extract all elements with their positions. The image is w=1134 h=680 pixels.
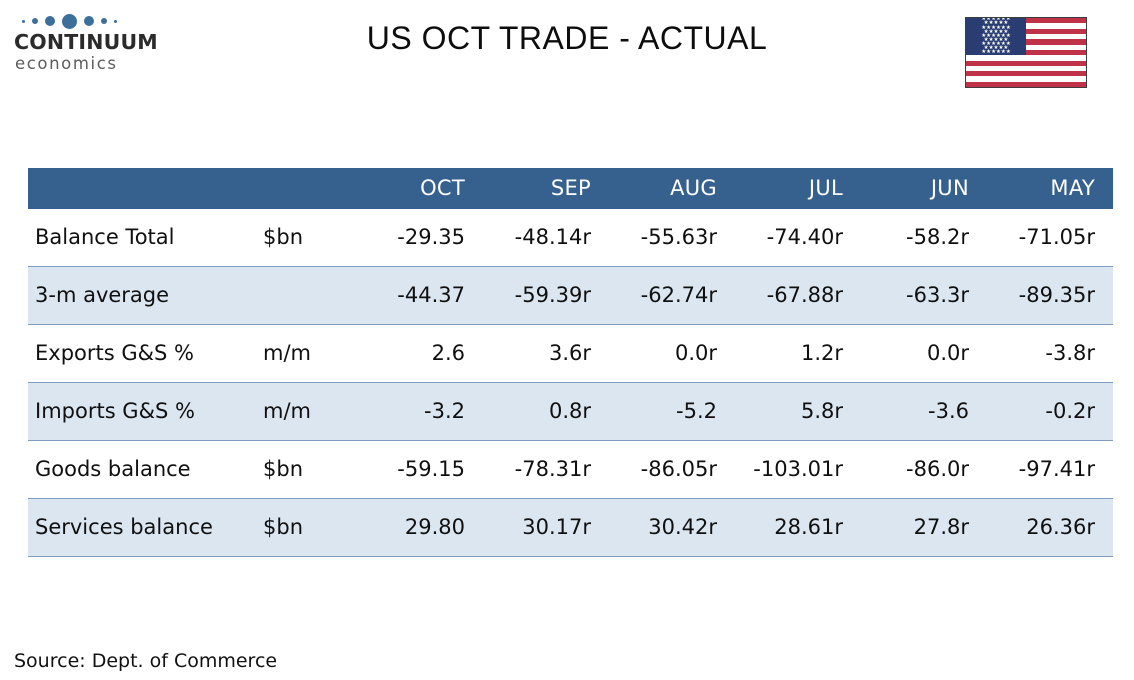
cell-may: -89.35r — [987, 267, 1113, 325]
row-label: Balance Total — [28, 209, 256, 267]
row-label: 3-m average — [28, 267, 256, 325]
cell-sep: 3.6r — [483, 325, 609, 383]
cell-may: -3.8r — [987, 325, 1113, 383]
cell-sep: -59.39r — [483, 267, 609, 325]
cell-may: -71.05r — [987, 209, 1113, 267]
cell-may: -97.41r — [987, 441, 1113, 499]
table-row: Services balance $bn 29.80 30.17r 30.42r… — [28, 499, 1113, 557]
cell-jun: -3.6 — [861, 383, 987, 441]
cell-aug: -86.05r — [609, 441, 735, 499]
column-header-label — [28, 168, 256, 209]
column-header-jun: JUN — [861, 168, 987, 209]
cell-jul: -67.88r — [735, 267, 861, 325]
cell-oct: 29.80 — [357, 499, 483, 557]
cell-jun: -86.0r — [861, 441, 987, 499]
cell-sep: -78.31r — [483, 441, 609, 499]
row-unit: $bn — [256, 209, 357, 267]
row-unit: m/m — [256, 383, 357, 441]
cell-oct: -59.15 — [357, 441, 483, 499]
source-note: Source: Dept. of Commerce — [14, 650, 277, 672]
column-header-jul: JUL — [735, 168, 861, 209]
cell-jul: -74.40r — [735, 209, 861, 267]
cell-jul: 1.2r — [735, 325, 861, 383]
table-row: Imports G&S % m/m -3.2 0.8r -5.2 5.8r -3… — [28, 383, 1113, 441]
cell-oct: -3.2 — [357, 383, 483, 441]
cell-oct: -44.37 — [357, 267, 483, 325]
cell-aug: 0.0r — [609, 325, 735, 383]
row-label: Goods balance — [28, 441, 256, 499]
cell-may: 26.36r — [987, 499, 1113, 557]
table-header-row: OCT SEP AUG JUL JUN MAY — [28, 168, 1113, 209]
column-header-unit — [256, 168, 357, 209]
cell-jun: 0.0r — [861, 325, 987, 383]
cell-sep: -48.14r — [483, 209, 609, 267]
cell-sep: 30.17r — [483, 499, 609, 557]
cell-oct: -29.35 — [357, 209, 483, 267]
row-unit: $bn — [256, 499, 357, 557]
table-row: 3-m average -44.37 -59.39r -62.74r -67.8… — [28, 267, 1113, 325]
cell-sep: 0.8r — [483, 383, 609, 441]
row-unit: m/m — [256, 325, 357, 383]
cell-may: -0.2r — [987, 383, 1113, 441]
cell-jun: 27.8r — [861, 499, 987, 557]
cell-jun: -58.2r — [861, 209, 987, 267]
cell-aug: 30.42r — [609, 499, 735, 557]
column-header-oct: OCT — [357, 168, 483, 209]
cell-jun: -63.3r — [861, 267, 987, 325]
row-unit — [256, 267, 357, 325]
us-flag-icon: ★★★★★★ ★★★★★ ★★★★★★ ★★★★★ ★★★★★★ ★★★★★ ★… — [965, 17, 1087, 88]
row-label: Exports G&S % — [28, 325, 256, 383]
row-label: Imports G&S % — [28, 383, 256, 441]
cell-jul: 5.8r — [735, 383, 861, 441]
column-header-aug: AUG — [609, 168, 735, 209]
table-row: Goods balance $bn -59.15 -78.31r -86.05r… — [28, 441, 1113, 499]
row-unit: $bn — [256, 441, 357, 499]
column-header-sep: SEP — [483, 168, 609, 209]
trade-data-table: OCT SEP AUG JUL JUN MAY Balance Total $b… — [28, 168, 1113, 557]
cell-jul: 28.61r — [735, 499, 861, 557]
table-row: Balance Total $bn -29.35 -48.14r -55.63r… — [28, 209, 1113, 267]
cell-aug: -62.74r — [609, 267, 735, 325]
row-label: Services balance — [28, 499, 256, 557]
page-title: US OCT TRADE - ACTUAL — [0, 20, 1134, 57]
cell-oct: 2.6 — [357, 325, 483, 383]
column-header-may: MAY — [987, 168, 1113, 209]
cell-aug: -5.2 — [609, 383, 735, 441]
cell-aug: -55.63r — [609, 209, 735, 267]
table-row: Exports G&S % m/m 2.6 3.6r 0.0r 1.2r 0.0… — [28, 325, 1113, 383]
cell-jul: -103.01r — [735, 441, 861, 499]
